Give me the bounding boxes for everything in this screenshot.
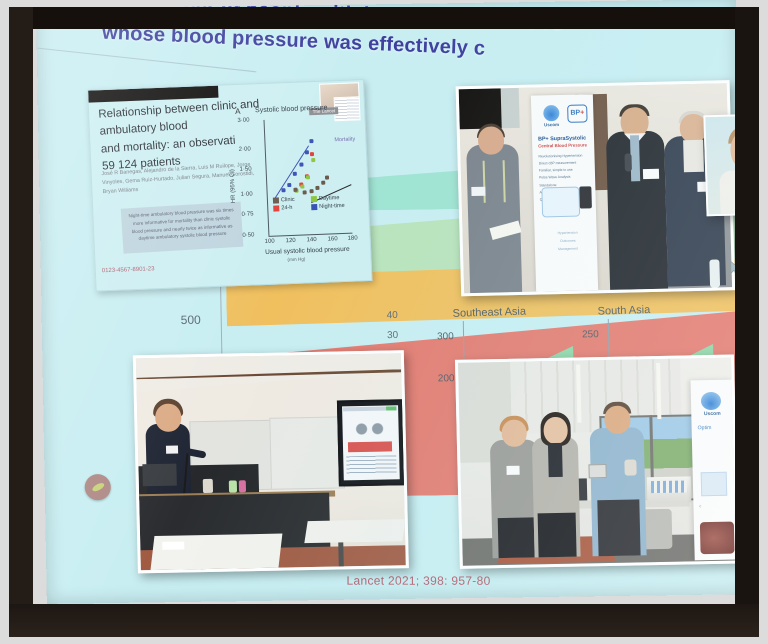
bgchart-y-tick: 500 (181, 313, 201, 327)
photo-whiteboard-2 (269, 416, 345, 489)
uscom-logo-label: Uscom (544, 122, 560, 127)
small-multiple-title: South Asia (597, 304, 650, 318)
legend-item-24h: 24-h (273, 204, 311, 211)
chart-x-axis-unit: (mm Hg) (287, 256, 305, 262)
banner-footer: Hypertension Outcomes Management (542, 228, 593, 254)
chart-y-tick-300: 3·00 (237, 117, 249, 123)
data-point-clinic (310, 189, 314, 193)
uscom-logo-icon: Uscom (543, 105, 559, 121)
photo-projection-screen (337, 399, 405, 486)
person-skirt (538, 513, 577, 558)
sticker-inner (91, 481, 105, 493)
office-banner-device (701, 472, 728, 496)
scatter-chart: A Systolic blood pressure 3·00 2·00 1·50… (229, 102, 364, 277)
photo-equipment (647, 476, 692, 503)
person-name-badge (643, 169, 659, 179)
banner-footer-2: Management (543, 245, 593, 254)
chart-x-tick-100: 100 (265, 239, 275, 245)
photo-dark-corner (459, 88, 502, 129)
person-held-paper (489, 221, 521, 240)
data-point-night-time (281, 188, 285, 192)
person-top (548, 443, 563, 477)
photo-person-right (590, 427, 647, 556)
projector-photo-scene: ... the number of people with hypertensi… (0, 0, 768, 644)
chart-annotation-mortality: Mortality (334, 136, 355, 143)
person-head (604, 406, 631, 434)
data-point-clinic (321, 181, 325, 185)
legend-swatch-nighttime (311, 204, 317, 210)
data-point-night-time (293, 172, 297, 176)
frame-right-edge (735, 7, 759, 637)
chart-x-tick-160: 160 (328, 236, 338, 242)
data-point-clinic (294, 188, 298, 192)
paper-title-line2: and mortality: an observati (100, 134, 235, 155)
bp-plus-sign: + (580, 109, 584, 116)
held-cuff-icon (624, 459, 636, 475)
projected-slide: ... the number of people with hypertensi… (36, 0, 747, 604)
chart-x-axis-label: Usual systolic blood pressure (265, 246, 350, 256)
slide-citation: Lancet 2021; 398: 957-80 (347, 574, 491, 588)
banner-subheading: Central Blood Pressure (538, 142, 592, 148)
photo-bottle-pink (239, 480, 246, 492)
bgchart-tick-30: 30 (387, 330, 398, 341)
slide-sticker (85, 474, 111, 500)
small-multiple-tick-1: 250 (582, 329, 599, 340)
lancet-paper-slide: The Lancet Relationship between clinic a… (87, 79, 372, 291)
chart-title: Systolic blood pressure (255, 105, 328, 115)
chart-y-axis-label: HR (95% CI) (230, 169, 237, 203)
paper-callout: Night-time ambulatory blood pressure was… (121, 202, 244, 254)
data-point-clinic (302, 191, 306, 195)
chart-y-tick-100: 1·00 (241, 191, 253, 197)
uscom-bp-banner: Uscom BP+ BP+ SupraSystolic Central Bloo… (531, 94, 598, 291)
chart-panel-label: A (235, 107, 241, 116)
frame-top-edge (9, 7, 759, 29)
photo-office-team: Uscom Optim c (455, 355, 739, 569)
bgchart-tick-40: 40 (387, 310, 398, 321)
photo-table-front (150, 534, 282, 571)
frame-left-edge (9, 7, 33, 637)
legend-item-nighttime: Night-time (311, 203, 355, 211)
data-point-daytime (306, 176, 310, 180)
photo-hand-sanitiser-bottle (709, 259, 720, 287)
photo-bottle-green (229, 480, 237, 492)
frame-bottom-edge (9, 604, 759, 637)
small-multiple-tick-2: 200 (438, 373, 455, 384)
legend-item-clinic: Clinic (273, 196, 311, 203)
data-point-night-time (305, 150, 309, 154)
office-banner-line2: c (699, 504, 733, 509)
chart-x-tick-140: 140 (307, 237, 317, 243)
data-point-clinic (325, 176, 329, 180)
banner-device-image-2 (579, 186, 592, 208)
photo-table-right (304, 519, 405, 543)
person-head (478, 126, 505, 155)
person-lanyard (483, 160, 506, 202)
legend-label-24h: 24-h (281, 205, 292, 211)
screen-slide-accent (386, 406, 396, 410)
person-head (155, 403, 182, 431)
data-point-night-time (310, 139, 314, 143)
screen-slide-figure (349, 419, 389, 438)
held-device-icon (588, 464, 606, 478)
chart-y-tick-050: 0·50 (242, 232, 254, 238)
banner-device-image (541, 187, 580, 218)
data-point-night-time (287, 183, 291, 187)
photo-cup (203, 479, 213, 493)
chart-legend: Clinic Daytime 24-h Night-time (273, 195, 356, 212)
chart-y-tick-150: 1·50 (239, 166, 251, 172)
screen-slide-text (346, 455, 396, 474)
photo-laptop (142, 464, 177, 487)
person-trousers (597, 499, 640, 556)
chart-x-tick-180: 180 (348, 235, 358, 241)
person-name-badge (471, 187, 485, 196)
person-head (543, 417, 568, 444)
screen-slide-redbar (348, 441, 392, 452)
chart-x-tick-120: 120 (286, 238, 296, 244)
paper-doi: 0123-4567-8901-23 (102, 266, 155, 274)
legend-label-clinic: Clinic (281, 197, 295, 204)
legend-label-daytime: Daytime (319, 195, 340, 202)
photo-person-reading (466, 144, 522, 293)
legend-swatch-24h (273, 205, 279, 211)
uscom-logo-icon (701, 392, 721, 410)
small-multiple-tick-1: 300 (437, 331, 454, 342)
data-point-clinic (316, 186, 320, 190)
photo-person-middle (532, 437, 581, 558)
bp-plus-logo-icon: BP+ (567, 104, 587, 122)
legend-item-daytime: Daytime (311, 195, 355, 203)
photo-person-speaking (606, 131, 668, 290)
data-point-24-h (310, 152, 314, 156)
office-banner-line1: Optim (698, 424, 732, 434)
chart-y-tick-200: 2·00 (239, 146, 251, 152)
photo-conference-panel: Uscom BP+ BP+ SupraSystolic Central Bloo… (456, 80, 736, 296)
photo-table-paper (162, 541, 184, 549)
uscom-logo-label: Uscom (691, 411, 733, 418)
person-skirt (498, 517, 535, 558)
person-head (620, 107, 649, 138)
chart-y-tick-075: 0·75 (241, 211, 253, 217)
uscom-office-banner: Uscom Optim c (690, 380, 736, 561)
legend-label-nighttime: Night-time (319, 203, 345, 210)
person-name-badge (166, 446, 178, 454)
data-point-night-time (299, 162, 303, 166)
person-head (501, 420, 527, 447)
chart-y-axis (263, 120, 269, 236)
data-point-daytime (300, 184, 304, 188)
photo-lecture-hall (133, 350, 409, 573)
legend-swatch-daytime (311, 196, 317, 202)
person-name-badge (506, 466, 519, 475)
data-point-daytime (311, 157, 315, 161)
person-shirt (683, 140, 704, 172)
legend-swatch-clinic (273, 197, 279, 203)
microphone-icon (624, 153, 631, 171)
small-multiple-title: Southeast Asia (452, 306, 526, 320)
office-banner-image (700, 522, 735, 555)
equipment-panel (651, 480, 687, 493)
